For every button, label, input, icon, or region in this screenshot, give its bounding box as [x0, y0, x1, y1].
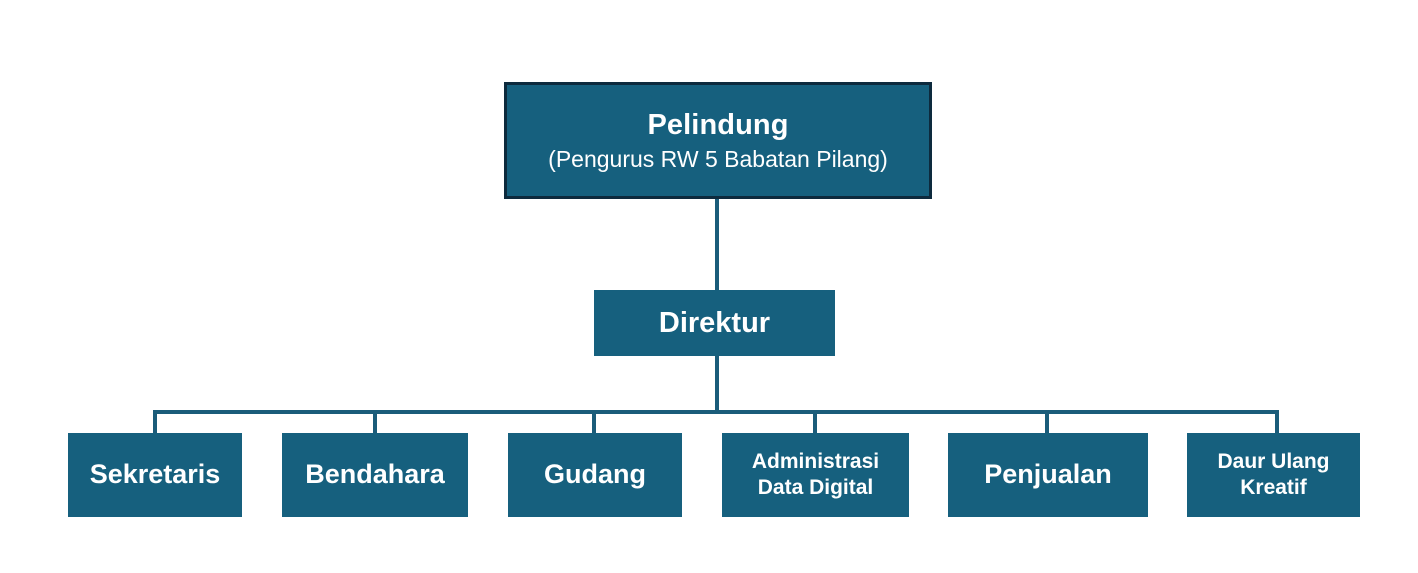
- connector-tick-gudang: [592, 410, 596, 435]
- node-administrasi-data-digital-line2: Data Digital: [758, 475, 874, 501]
- connector-tick-daur-ulang-kreatif: [1275, 410, 1279, 435]
- connector-horizontal-bus: [155, 410, 1279, 414]
- node-administrasi-data-digital-line1: Administrasi: [752, 449, 879, 475]
- node-daur-ulang-kreatif-line2: Kreatif: [1240, 475, 1307, 501]
- node-daur-ulang-kreatif-line1: Daur Ulang: [1217, 449, 1329, 475]
- node-penjualan-title: Penjualan: [984, 459, 1112, 491]
- node-sekretaris[interactable]: Sekretaris: [68, 433, 242, 517]
- connector-tick-penjualan: [1045, 410, 1049, 435]
- connector-direktur-to-bus: [715, 354, 719, 414]
- connector-pelindung-to-direktur: [715, 197, 719, 292]
- node-penjualan[interactable]: Penjualan: [948, 433, 1148, 517]
- node-sekretaris-title: Sekretaris: [90, 459, 221, 491]
- node-pelindung-subtitle: (Pengurus RW 5 Babatan Pilang): [548, 146, 888, 173]
- node-direktur-title: Direktur: [659, 306, 770, 340]
- node-daur-ulang-kreatif[interactable]: Daur Ulang Kreatif: [1187, 433, 1360, 517]
- connector-tick-sekretaris: [153, 410, 157, 435]
- node-direktur[interactable]: Direktur: [594, 290, 835, 356]
- connector-tick-administrasi-data-digital: [813, 410, 817, 435]
- node-gudang[interactable]: Gudang: [508, 433, 682, 517]
- node-gudang-title: Gudang: [544, 459, 646, 491]
- node-pelindung[interactable]: Pelindung (Pengurus RW 5 Babatan Pilang): [504, 82, 932, 199]
- connector-tick-bendahara: [373, 410, 377, 435]
- node-bendahara-title: Bendahara: [305, 459, 445, 491]
- node-pelindung-title: Pelindung: [647, 108, 788, 142]
- org-chart: Pelindung (Pengurus RW 5 Babatan Pilang)…: [0, 0, 1418, 573]
- node-bendahara[interactable]: Bendahara: [282, 433, 468, 517]
- node-administrasi-data-digital[interactable]: Administrasi Data Digital: [722, 433, 909, 517]
